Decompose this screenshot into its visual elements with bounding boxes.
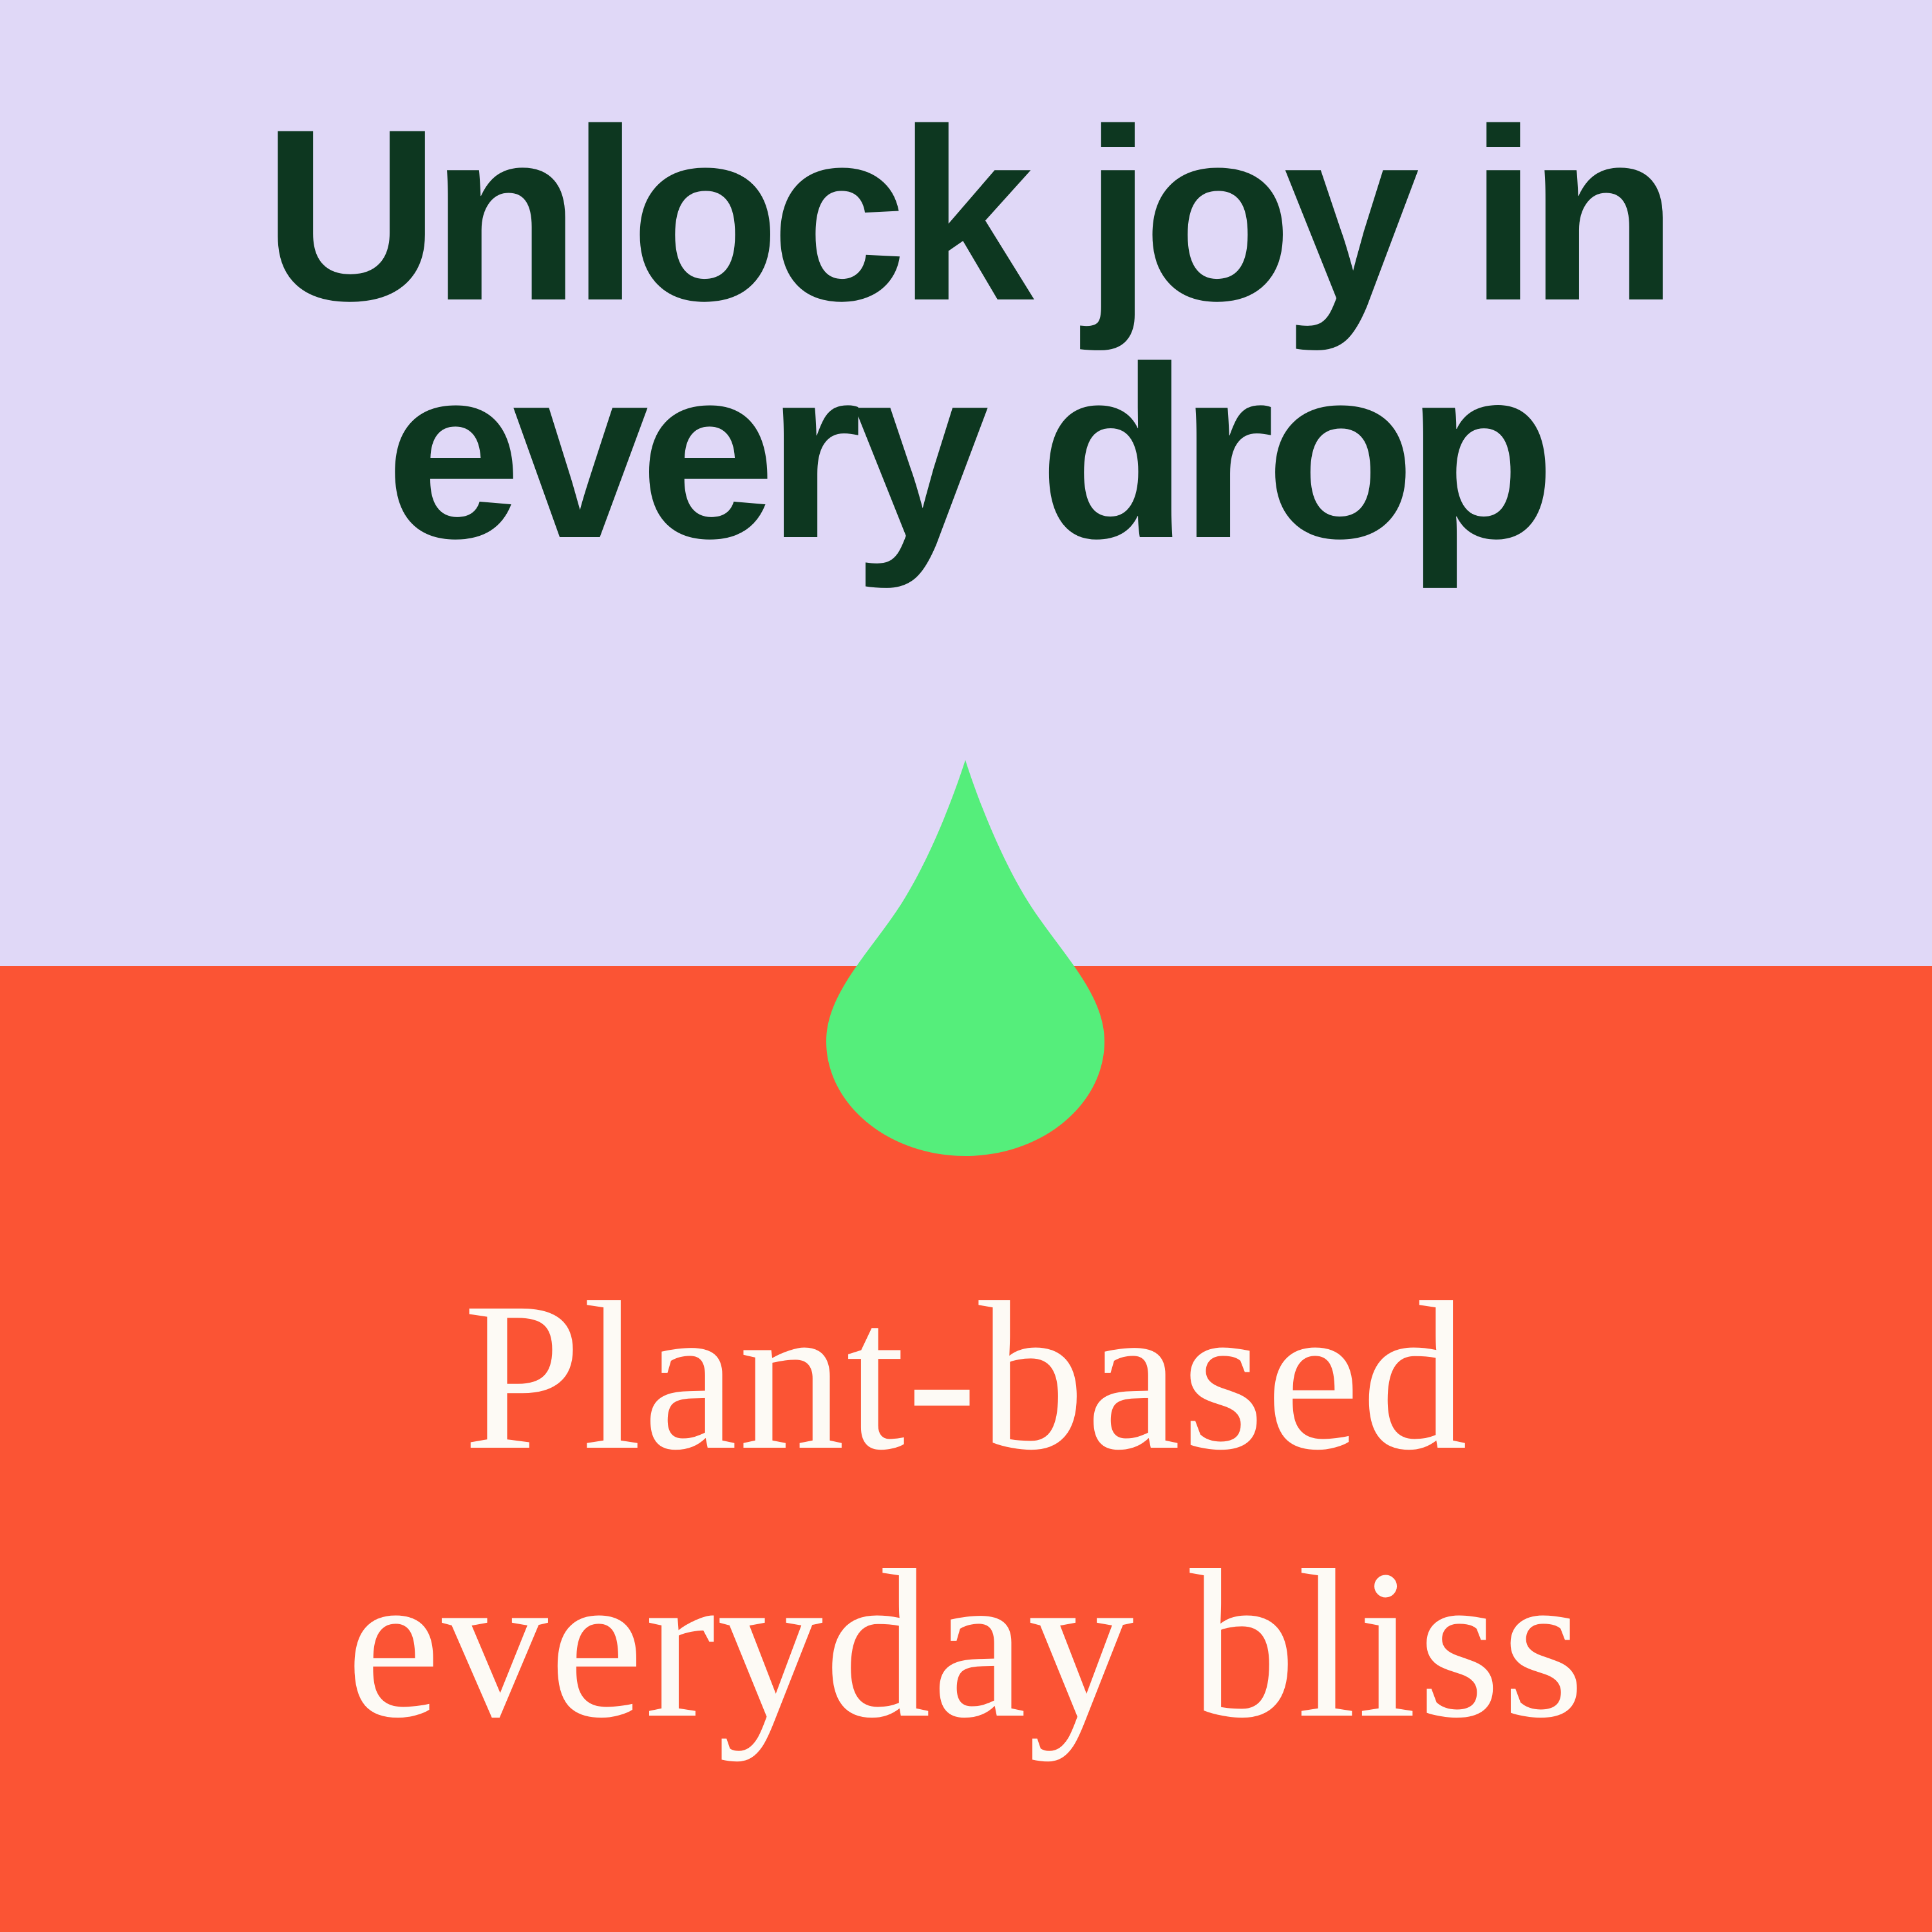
subhead-text-block: Plant-based everyday bliss xyxy=(0,1243,1932,1779)
water-droplet-icon xyxy=(826,760,1104,1156)
subhead-line-2: everyday bliss xyxy=(0,1511,1932,1779)
headline-line-1: Unlock joy in xyxy=(0,97,1932,334)
poster-canvas: Unlock joy in every drop Plant-based eve… xyxy=(0,0,1932,1932)
headline-line-2: every drop xyxy=(0,334,1932,572)
headline-text-block: Unlock joy in every drop xyxy=(0,97,1932,571)
subhead-line-1: Plant-based xyxy=(0,1243,1932,1511)
